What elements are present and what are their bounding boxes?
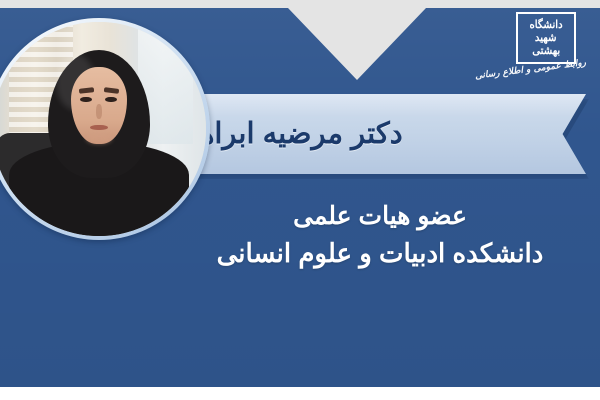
subtitle-block: عضو هیات علمی دانشکده ادبیات و علوم انسا…: [180, 198, 580, 272]
photo-chin: [86, 133, 112, 144]
university-logo: دانشگاه شهید بهشتی روابط عمومی و اطلاع ر…: [492, 8, 588, 90]
photo-lips: [90, 125, 107, 131]
faculty-announcement-card: دانشگاه شهید بهشتی روابط عمومی و اطلاع ر…: [0, 0, 600, 400]
role-line: عضو هیات علمی: [180, 198, 580, 234]
faculty-line: دانشکده ادبیات و علوم انسانی: [180, 234, 580, 272]
logo-line-beheshti: بهشتی: [532, 45, 560, 58]
logo-line-shahid: شهید: [535, 32, 557, 45]
portrait-photo: [0, 22, 206, 236]
portrait-frame: [0, 18, 210, 240]
logo-line-university: دانشگاه: [529, 19, 562, 32]
logo-box: دانشگاه شهید بهشتی: [516, 12, 576, 64]
